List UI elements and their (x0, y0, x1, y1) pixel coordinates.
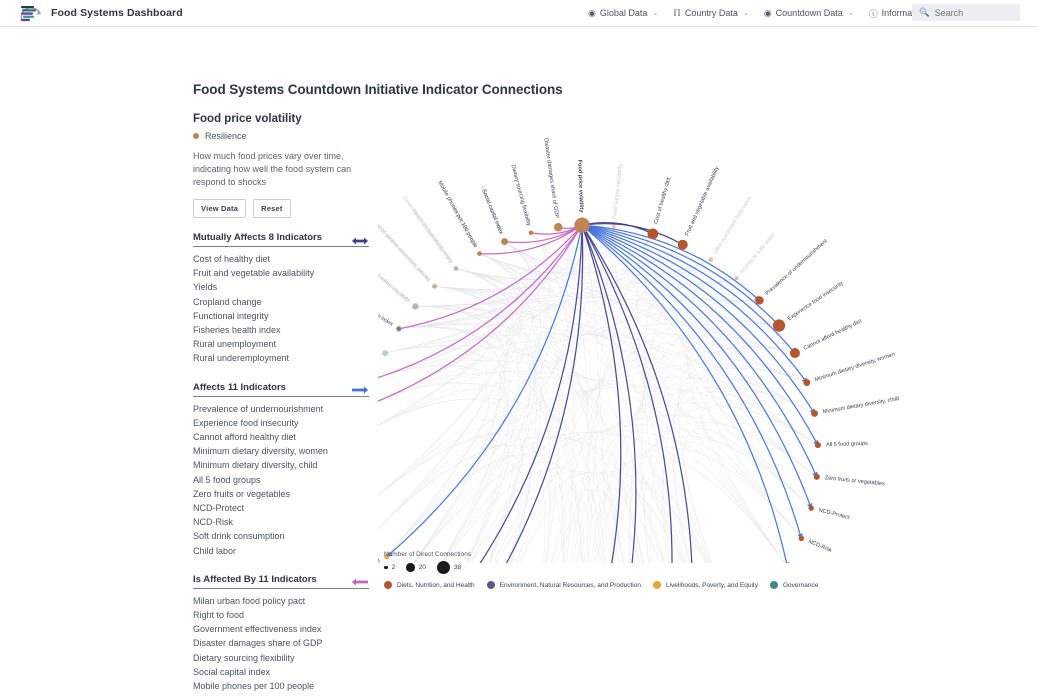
node-label-6: Prevalence of undernourishment (765, 238, 829, 297)
action-buttons: View Data Reset (193, 199, 369, 218)
search-input[interactable] (935, 8, 1015, 18)
page-body: Food Systems Countdown Initiative Indica… (0, 27, 1038, 653)
section-mutually-affects: Mutually Affects 8 Indicators Cost of he… (193, 232, 369, 366)
legend-category-livelihoods[interactable]: Livelihoods, Poverty, and Equity (653, 581, 758, 589)
top-navigation-bar: Food Systems Dashboard ◉ Global Data ⌄ ℿ… (0, 0, 1038, 27)
legend-categories: Diets, Nutrition, and Health Environment… (384, 581, 818, 589)
nav-item-global-data[interactable]: ◉ Global Data ⌄ (588, 8, 658, 19)
node-6[interactable] (755, 296, 763, 304)
legend-size-label: 2 (392, 564, 396, 571)
brand-name: Food Systems Dashboard (51, 7, 183, 19)
list-item[interactable]: Minimum dietary diversity, women (193, 444, 369, 458)
indicator-list-affects: Prevalence of undernourishment Experienc… (193, 402, 369, 558)
section-header: Is Affected By 11 Indicators (193, 574, 369, 589)
chevron-down-icon: ⌄ (848, 9, 854, 17)
brand[interactable]: Food Systems Dashboard (0, 2, 183, 24)
double-arrow-icon (351, 233, 369, 243)
node-label-7: Experience food insecurity (787, 280, 845, 322)
node-label-2: Cost of healthy diet (653, 177, 672, 225)
node-5[interactable] (735, 276, 739, 280)
legend-category-label: Livelihoods, Poverty, and Equity (666, 582, 758, 589)
node-48[interactable] (432, 284, 437, 289)
list-item[interactable]: Soft drink consumption (193, 529, 369, 543)
list-item[interactable]: Experience food insecurity (193, 416, 369, 430)
node-49[interactable] (413, 304, 418, 309)
section-title: Is Affected By 11 Indicators (193, 574, 317, 585)
node-1[interactable] (612, 224, 617, 229)
legend-category-dot (770, 581, 778, 589)
node-label-11: All 5 food groups (826, 441, 868, 448)
legend-category-dot (384, 581, 392, 589)
list-item[interactable]: Mobile phones per 100 people (193, 679, 369, 693)
legend-category-governance[interactable]: Governance (770, 581, 818, 589)
list-item[interactable]: NCD-Protect (193, 501, 369, 515)
node-label-46: Mobile phones per 100 people (436, 180, 478, 249)
node-label-48: Conservation of genetic resources, anima… (378, 202, 431, 283)
list-item[interactable]: Government effectiveness index (193, 622, 369, 636)
nav-menu: ◉ Global Data ⌄ ℿ Country Data ⌄ ◉ Count… (588, 0, 938, 26)
node-label-30: Child labor (378, 558, 382, 563)
search-box[interactable]: 🔍 (912, 4, 1020, 21)
globe-icon: ◉ (588, 8, 596, 19)
node-label-12: Zero fruits or vegetables (824, 475, 885, 487)
list-item[interactable]: Zero fruits or vegetables (193, 487, 369, 501)
node-label-45: Social capital index (480, 188, 504, 235)
node-7[interactable] (773, 319, 785, 331)
node-47[interactable] (454, 266, 459, 271)
nav-item-countdown-data[interactable]: ◉ Countdown Data ⌄ (764, 8, 854, 19)
node-label-0: Food price volatility (576, 160, 584, 214)
legend-size-label: 20 (419, 564, 426, 571)
list-item[interactable]: Cannot afford healthy diet (193, 430, 369, 444)
legend-category-diets[interactable]: Diets, Nutrition, and Health (384, 581, 475, 589)
indicator-list-affected-by: Milan urban food policy pact Right to fo… (193, 594, 369, 693)
list-item[interactable]: Yields (193, 280, 369, 294)
node-10[interactable] (811, 410, 818, 417)
list-item[interactable]: Rural unemployment (193, 337, 369, 351)
node-11[interactable] (815, 442, 821, 448)
legend-size-dot (406, 563, 414, 571)
list-item[interactable]: Dietary sourcing flexibility (193, 651, 369, 665)
chart-legend: Number of Direct Connections 2 20 38 Die… (384, 551, 818, 589)
nav-item-label: Global Data (600, 8, 648, 18)
indicator-domain: Resilience (193, 131, 369, 141)
nav-item-country-data[interactable]: ℿ Country Data ⌄ (673, 8, 749, 19)
nav-item-label: Countdown Data (776, 8, 843, 18)
legend-size-dot (384, 566, 388, 570)
chevron-down-icon: ⌄ (743, 9, 749, 17)
list-item[interactable]: Functional integrity (193, 309, 369, 323)
page-title: Food Systems Countdown Initiative Indica… (193, 82, 563, 97)
node-50[interactable] (396, 326, 402, 332)
node-43[interactable] (554, 223, 562, 231)
list-item[interactable]: Social capital index (193, 665, 369, 679)
list-item[interactable]: Rural underemployment (193, 351, 369, 365)
node-12[interactable] (814, 474, 820, 480)
edge-mutual (437, 225, 582, 563)
legend-category-dot (653, 581, 661, 589)
list-item[interactable]: Cost of healthy diet (193, 252, 369, 266)
list-item[interactable]: Disaster damages share of GDP (193, 636, 369, 650)
node-0[interactable] (574, 217, 589, 232)
node-4[interactable] (709, 257, 714, 262)
list-item[interactable]: Prevalence of undernourishment (193, 402, 369, 416)
section-affects: Affects 11 Indicators Prevalence of unde… (193, 382, 369, 558)
node-14[interactable] (799, 536, 804, 541)
node-label-4: Ultra-processed food sales (713, 196, 753, 256)
legend-size-item: 2 (384, 564, 395, 571)
legend-category-label: Environment, Natural Resources, and Prod… (500, 582, 641, 589)
legend-category-label: Diets, Nutrition, and Health (397, 582, 475, 589)
reset-button[interactable]: Reset (253, 199, 290, 218)
globe-icon: ◉ (764, 8, 772, 19)
left-arrow-icon (351, 574, 369, 584)
section-is-affected-by: Is Affected By 11 Indicators Milan urban… (193, 574, 369, 693)
list-item[interactable]: Cropland change (193, 295, 369, 309)
list-item[interactable]: Right to food (193, 608, 369, 622)
node-label-44: Dietary sourcing flexibility (509, 164, 531, 227)
node-label-10: Minimum dietary diversity, child (822, 396, 899, 415)
node-44[interactable] (529, 230, 534, 235)
legend-size-title: Number of Direct Connections (384, 551, 818, 558)
section-header: Affects 11 Indicators (193, 382, 369, 397)
list-item[interactable]: Milan urban food policy pact (193, 594, 369, 608)
view-data-button[interactable]: View Data (193, 199, 246, 218)
node-label-8: Cannot afford healthy diet (803, 318, 864, 352)
indicator-name: Food price volatility (193, 113, 369, 125)
list-item[interactable]: Fruit and vegetable availability (193, 266, 369, 280)
right-arrow-icon (351, 382, 369, 392)
domain-label: Resilience (205, 131, 247, 141)
food-systems-logo (18, 2, 44, 24)
node-label-47: Minimum species diversity (410, 208, 453, 265)
node-9[interactable] (803, 379, 810, 386)
legend-category-label: Governance (783, 582, 818, 589)
indicator-description: How much food prices vary over time, ind… (193, 150, 358, 189)
list-item[interactable]: Child labor (193, 544, 369, 558)
indicator-list-mutual: Cost of healthy diet Fruit and vegetable… (193, 252, 369, 366)
legend-size-label: 38 (454, 564, 461, 571)
info-circle-icon: ⓘ (869, 7, 878, 20)
flag-icon: ℿ (673, 8, 681, 19)
indicator-detail-panel: Food price volatility Resilience How muc… (193, 113, 369, 696)
section-title: Affects 11 Indicators (193, 382, 286, 393)
network-svg[interactable]: Food price volatilityFood supply variabi… (378, 123, 1038, 563)
node-label-9: Minimum dietary diversity, women (814, 352, 896, 384)
node-label-1: Food supply variability (612, 163, 624, 219)
nav-item-label: Country Data (685, 8, 738, 18)
legend-size-dot (437, 561, 450, 574)
list-item[interactable]: NCD-Risk (193, 515, 369, 529)
node-label-5: Access to safe water (739, 232, 777, 275)
node-13[interactable] (809, 505, 814, 510)
section-title: Mutually Affects 8 Indicators (193, 232, 322, 243)
node-46[interactable] (477, 251, 482, 256)
section-header: Mutually Affects 8 Indicators (193, 232, 369, 247)
node-36[interactable] (382, 350, 388, 356)
legend-size-item: 20 (406, 563, 426, 571)
node-3[interactable] (678, 240, 688, 250)
legend-category-dot (487, 581, 495, 589)
node-label-3: Fruit and vegetable availability (685, 166, 721, 237)
node-45[interactable] (501, 238, 508, 245)
node-8[interactable] (790, 348, 800, 358)
node-label-13: NCD-Protect (818, 508, 851, 522)
legend-category-environment[interactable]: Environment, Natural Resources, and Prod… (487, 581, 641, 589)
chevron-down-icon: ⌄ (652, 9, 658, 17)
search-icon: 🔍 (919, 7, 930, 18)
legend-size-item: 38 (437, 561, 461, 574)
node-label-36: Food system pathway (378, 323, 379, 352)
node-2[interactable] (647, 228, 658, 239)
node-label-43: Disaster damages share of GDP (542, 138, 559, 219)
list-item[interactable]: All 5 food groups (193, 473, 369, 487)
domain-color-dot (193, 133, 199, 139)
legend-size-scale: 2 20 38 (384, 561, 818, 574)
node-label-50: Reduced coping strategies (378, 286, 394, 327)
list-item[interactable]: Minimum dietary diversity, child (193, 458, 369, 472)
list-item[interactable]: Fisheries health index (193, 323, 369, 337)
